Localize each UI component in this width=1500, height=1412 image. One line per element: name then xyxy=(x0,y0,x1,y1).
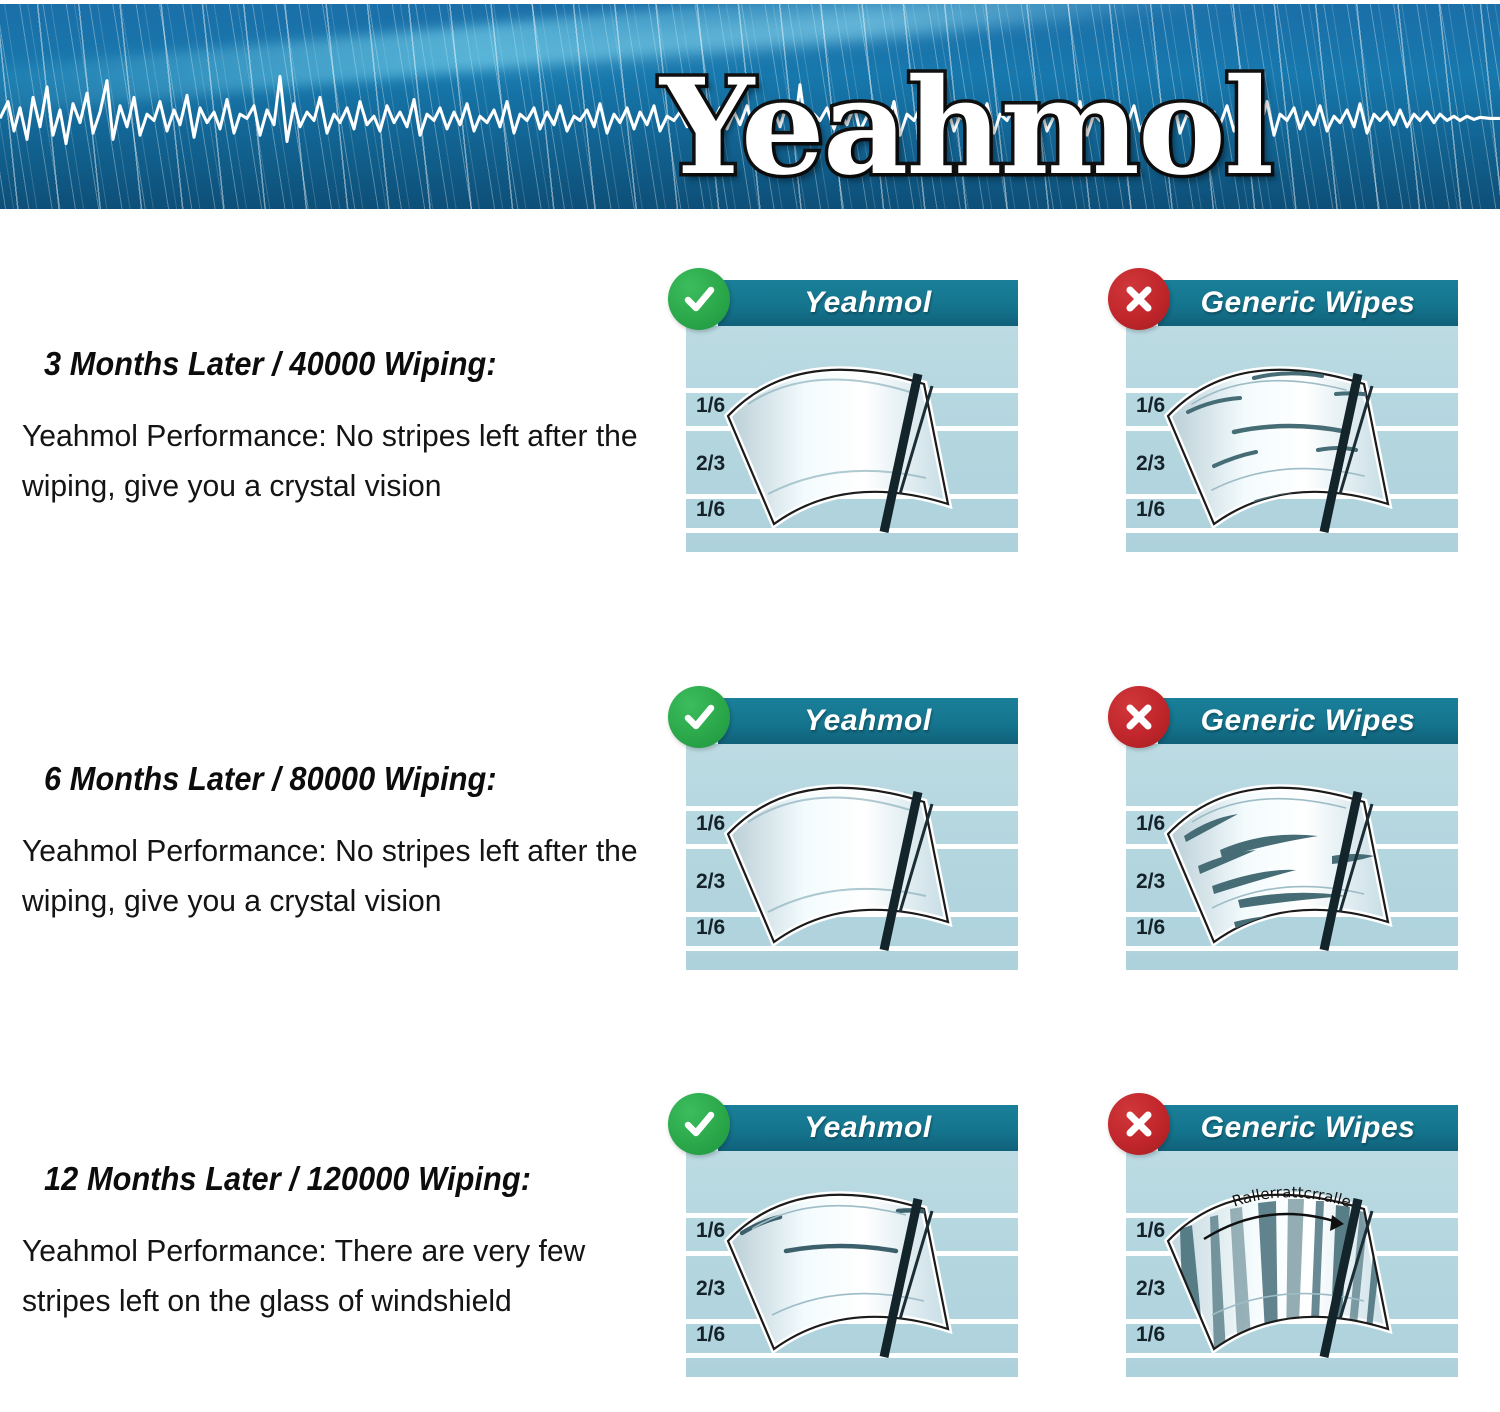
row-3-generic-body: 1/6 2/3 1/6 xyxy=(1126,1151,1458,1377)
check-icon xyxy=(680,698,718,736)
row-1-generic-title: Generic Wipes xyxy=(1201,286,1416,320)
row-1-text-column: 3 Months Later / 40000 Wiping: Yeahmol P… xyxy=(22,345,682,511)
row-3-yeahmol-body: 1/6 2/3 1/6 xyxy=(686,1151,1018,1377)
wiper-sweep-diagram-severe-wedges: Rallerrattcrralle xyxy=(1126,1151,1458,1377)
wiper-sweep-diagram-streaked-light xyxy=(1126,326,1458,552)
row-2-yeahmol-body: 1/6 2/3 1/6 xyxy=(686,744,1018,970)
row-1-generic-panel: Generic Wipes 1/6 2/3 1/6 xyxy=(1108,280,1458,552)
row-2-heading: 6 Months Later / 80000 Wiping: xyxy=(44,760,637,798)
row-2-body: Yeahmol Performance: No stripes left aft… xyxy=(22,826,662,926)
row-3-text-column: 12 Months Later / 120000 Wiping: Yeahmol… xyxy=(22,1160,682,1326)
row-3-yeahmol-panel: Yeahmol 1/6 2/3 1/6 xyxy=(668,1105,1018,1377)
check-icon xyxy=(680,1105,718,1143)
row-2-generic-header: Generic Wipes xyxy=(1158,698,1458,744)
wiper-sweep-diagram-few-stripes xyxy=(686,1151,1018,1377)
row-3-fail-badge xyxy=(1108,1093,1170,1155)
row-3-heading: 12 Months Later / 120000 Wiping: xyxy=(44,1160,637,1198)
row-1-yeahmol-panel: Yeahmol 1/6 2/3 1/6 xyxy=(668,280,1018,552)
row-2-pass-badge xyxy=(668,686,730,748)
row-1-body: Yeahmol Performance: No stripes left aft… xyxy=(22,411,662,511)
wiper-sweep-diagram-clean xyxy=(686,326,1018,552)
wiper-sweep-diagram-streaked-heavy xyxy=(1126,744,1458,970)
row-1-yeahmol-title: Yeahmol xyxy=(804,286,931,320)
row-2-fail-badge xyxy=(1108,686,1170,748)
row-2-text-column: 6 Months Later / 80000 Wiping: Yeahmol P… xyxy=(22,760,682,926)
row-2-generic-panel: Generic Wipes 1/6 2/3 1/6 xyxy=(1108,698,1458,970)
check-icon xyxy=(680,280,718,318)
x-icon xyxy=(1121,281,1157,317)
row-3-body: Yeahmol Performance: There are very few … xyxy=(22,1226,662,1326)
row-3-yeahmol-title: Yeahmol xyxy=(804,1111,931,1145)
row-3-generic-panel: Generic Wipes 1/6 2/3 1/6 xyxy=(1108,1105,1458,1377)
brand-banner: Yeahmol xyxy=(0,4,1500,209)
brand-logo-text: Yeahmol xyxy=(660,62,1272,194)
row-2-generic-body: 1/6 2/3 1/6 xyxy=(1126,744,1458,970)
row-2-generic-title: Generic Wipes xyxy=(1201,704,1416,738)
row-1-fail-badge xyxy=(1108,268,1170,330)
row-2-yeahmol-title: Yeahmol xyxy=(804,704,931,738)
row-1-yeahmol-body: 1/6 2/3 1/6 xyxy=(686,326,1018,552)
row-1-generic-body: 1/6 2/3 1/6 xyxy=(1126,326,1458,552)
wiper-sweep-diagram-clean xyxy=(686,744,1018,970)
row-1-yeahmol-header: Yeahmol xyxy=(718,280,1018,326)
row-2-yeahmol-panel: Yeahmol 1/6 2/3 1/6 xyxy=(668,698,1018,970)
row-3-generic-title: Generic Wipes xyxy=(1201,1111,1416,1145)
row-2-yeahmol-header: Yeahmol xyxy=(718,698,1018,744)
x-icon xyxy=(1121,1106,1157,1142)
row-3-generic-header: Generic Wipes xyxy=(1158,1105,1458,1151)
row-3-pass-badge xyxy=(668,1093,730,1155)
row-1-pass-badge xyxy=(668,268,730,330)
row-3-yeahmol-header: Yeahmol xyxy=(718,1105,1018,1151)
row-1-heading: 3 Months Later / 40000 Wiping: xyxy=(44,345,637,383)
row-1-generic-header: Generic Wipes xyxy=(1158,280,1458,326)
x-icon xyxy=(1121,699,1157,735)
